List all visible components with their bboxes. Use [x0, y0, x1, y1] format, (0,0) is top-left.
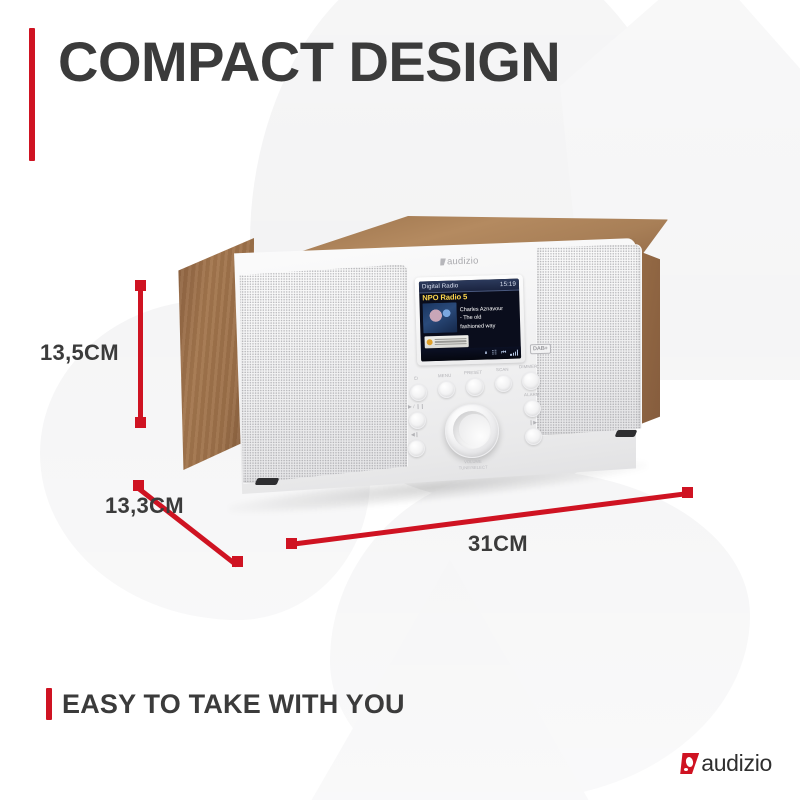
page-title: COMPACT DESIGN	[58, 34, 560, 90]
track-line: fashioned way	[460, 321, 517, 331]
scan-button-label: SCAN	[496, 367, 509, 372]
height-dimension-label: 13,5CM	[40, 340, 119, 366]
menu-button[interactable]	[438, 381, 455, 398]
speaker-grille-right	[536, 244, 642, 436]
depth-dimension-label: 13,3CM	[105, 493, 184, 519]
signal-bars-icon	[510, 350, 518, 356]
thumb-lines	[435, 338, 467, 345]
product-brand-mark-icon	[440, 258, 446, 265]
pause-icon: ⏸	[485, 350, 488, 356]
width-dimension-cap-end	[682, 487, 693, 498]
scan-button[interactable]	[495, 375, 512, 392]
next-button-label: ❙▶	[529, 420, 537, 426]
brand-logo: audizio	[680, 752, 772, 775]
audizio-mark-icon	[680, 753, 699, 774]
lcd-display-screen[interactable]: Digital Radio 15:19 NPO Radio 5 Charles …	[419, 279, 521, 362]
cabinet-foot-right	[615, 430, 638, 437]
previous-button[interactable]	[408, 440, 425, 457]
track-skip-icon: ⏮	[501, 350, 507, 356]
thumb-dot-icon	[427, 339, 433, 345]
background-swoop	[300, 560, 600, 800]
alarm-button-label: ALARM	[524, 392, 540, 397]
page-subtitle: EASY TO TAKE WITH YOU	[62, 690, 405, 720]
volume-knob-label: VOLUME TUNE/SELECT	[453, 458, 493, 471]
volume-tune-knob[interactable]	[445, 404, 499, 458]
product-brand-text: audizio	[447, 255, 479, 267]
power-button-label: ⏻	[414, 376, 418, 382]
depth-dimension-cap-end	[232, 556, 243, 567]
depth-dimension-group	[136, 438, 266, 538]
display-now-playing-thumb	[424, 335, 468, 348]
height-dimension-cap-top	[135, 280, 146, 291]
play-pause-button-label: ▶ / ❙❙	[408, 404, 425, 410]
play-pause-button[interactable]	[409, 412, 426, 429]
display-album-art	[422, 303, 457, 334]
menu-button-label: MENU	[438, 373, 451, 378]
width-dimension-cap-start	[286, 538, 297, 549]
preset-button-label: PRESET	[464, 370, 482, 376]
power-button[interactable]	[410, 384, 427, 401]
alarm-button[interactable]	[524, 400, 541, 417]
title-accent-bar	[29, 28, 35, 161]
display-icon-bar: ⏸ ☷ ⏮	[421, 347, 521, 362]
product-brand-logo: audizio	[440, 255, 479, 267]
width-dimension-label: 31CM	[468, 531, 528, 557]
dimmer-button-label: DIMMER	[519, 364, 538, 370]
dab-plus-badge: DAB+	[530, 344, 551, 355]
knob-label-line-2: TUNE/SELECT	[453, 464, 493, 471]
dimmer-button[interactable]	[522, 372, 540, 390]
height-dimension-line	[138, 285, 143, 421]
stereo-icon: ☷	[492, 350, 498, 356]
brand-logo-text: audizio	[701, 752, 772, 775]
display-clock: 15:19	[500, 281, 516, 288]
preset-button[interactable]	[466, 378, 484, 396]
previous-button-label: ◀❙	[411, 432, 419, 438]
subtitle-accent-bar	[46, 688, 52, 720]
marketing-image-canvas: COMPACT DESIGN audizio Digital Radio 15:…	[0, 0, 800, 800]
display-mode-label: Digital Radio	[422, 282, 459, 290]
next-button[interactable]	[525, 428, 542, 445]
lcd-display-bezel: Digital Radio 15:19 NPO Radio 5 Charles …	[415, 274, 526, 365]
depth-dimension-cap-start	[133, 480, 144, 491]
height-dimension-cap-bottom	[135, 417, 146, 428]
